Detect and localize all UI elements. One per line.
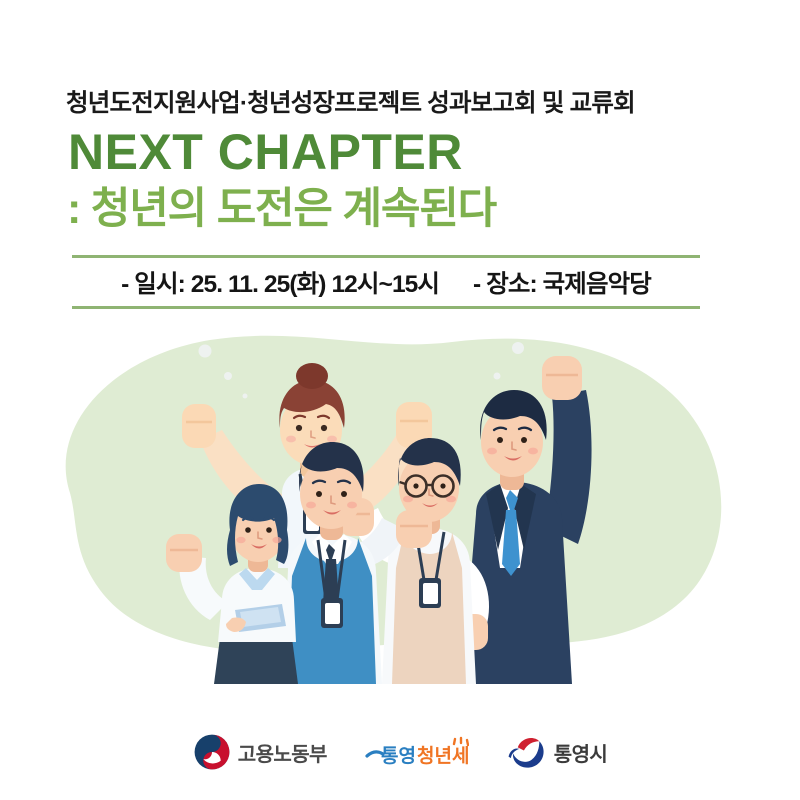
logo-label-ministry: 고용노동부 (238, 738, 327, 767)
bubble-icon (243, 394, 248, 399)
event-info-row: - 일시: 25. 11. 25(화) 12시~15시 - 장소: 국제음악당 (72, 258, 700, 306)
bubble-icon (224, 372, 232, 380)
page-subtitle: : 청년의 도전은 계속된다 (67, 185, 496, 234)
eyebrow-text: 청년도전지원사업·청년성장프로젝트 성과보고회 및 교류회 (66, 84, 635, 119)
tongyeong-youth-seum-wordmark: 통영 청년세움 (365, 732, 469, 772)
tongyeong-swoosh-icon (507, 733, 547, 771)
event-place: - 장소: 국제음악당 (473, 265, 651, 300)
people-cheering-illustration (0, 318, 800, 718)
svg-text:통영: 통영 (381, 745, 416, 767)
logo-tongyeong-city: 통영시 (507, 733, 607, 771)
hero-illustration (0, 318, 800, 718)
logo-ministry-of-employment-and-labor: 고용노동부 (193, 733, 327, 771)
logo-tongyeong-youth-seum: 통영 청년세움 통영청년세움 (365, 732, 469, 772)
event-info-bar: - 일시: 25. 11. 25(화) 12시~15시 - 장소: 국제음악당 (72, 255, 700, 309)
taegeuk-icon (193, 733, 231, 771)
logo-label-tongyeong-city: 통영시 (554, 738, 607, 767)
bubble-icon (512, 342, 524, 354)
page-title: NEXT CHAPTER (68, 127, 463, 177)
svg-text:청년세움: 청년세움 (417, 745, 469, 767)
poster-root: 청년도전지원사업·청년성장프로젝트 성과보고회 및 교류회 NEXT CHAPT… (0, 0, 800, 800)
bubble-icon (199, 345, 212, 358)
logo-strip: 고용노동부 통영 청년세움 통영청년세움 통영시 (0, 732, 800, 772)
event-date: - 일시: 25. 11. 25(화) 12시~15시 (121, 265, 439, 300)
bubble-icon (494, 373, 501, 380)
